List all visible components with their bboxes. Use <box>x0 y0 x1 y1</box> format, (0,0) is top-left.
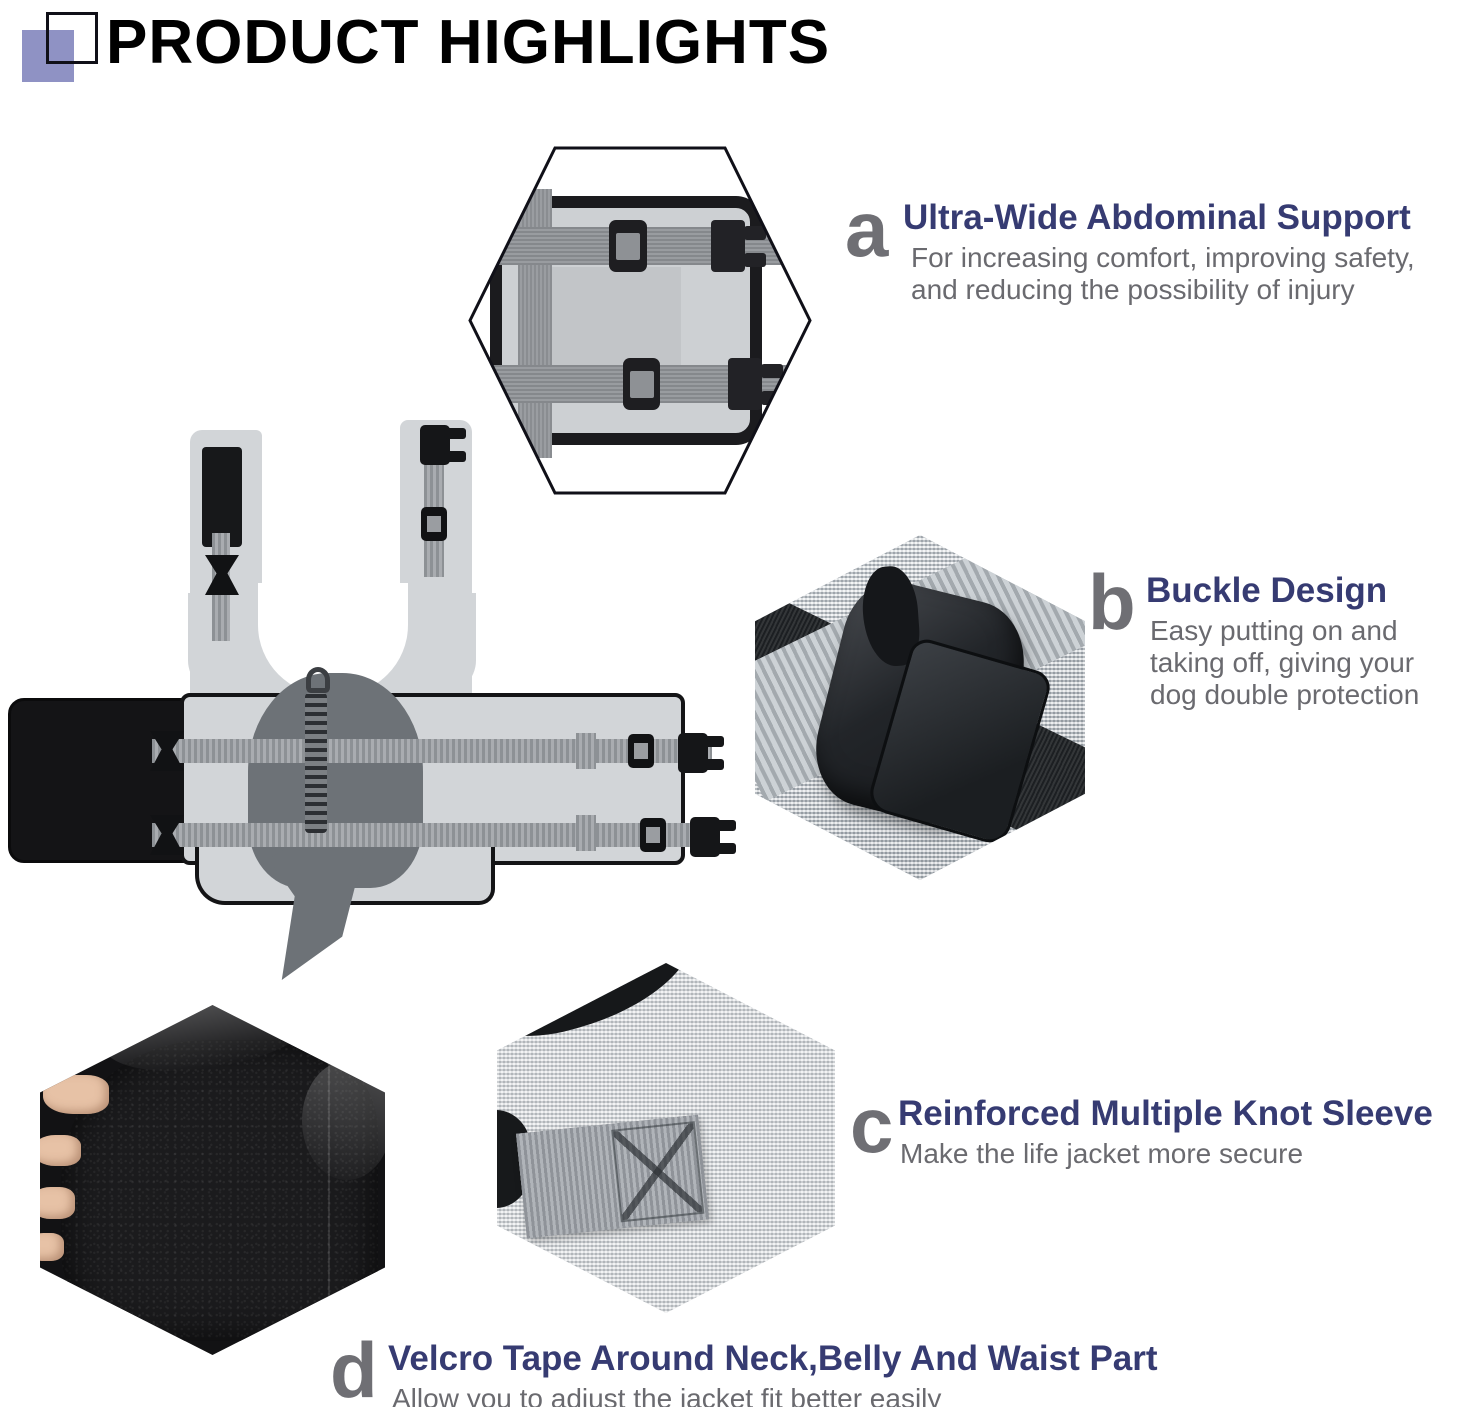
header: PRODUCT HIGHLIGHTS <box>0 0 1472 110</box>
highlight-c-letter: c <box>850 1092 893 1158</box>
lower-right-buckle-clip <box>690 817 720 857</box>
upper-vertical-keeper <box>576 733 596 769</box>
highlight-b-body: Easy putting on and taking off, giving y… <box>1150 615 1419 711</box>
ring-finger <box>40 1233 64 1261</box>
index-finger <box>40 1135 81 1167</box>
highlight-a-text: a Ultra-Wide Abdominal Support For incre… <box>845 190 1465 315</box>
center-ladder-strap <box>305 693 327 833</box>
dog-life-jacket-flat-lay-photo <box>0 415 745 985</box>
logo-outlined-square <box>46 12 98 64</box>
upper-right-buckle-clip <box>678 733 708 773</box>
neck-buckle-clip <box>420 425 450 465</box>
highlight-c-text: c Reinforced Multiple Knot Sleeve Make t… <box>850 1088 1470 1178</box>
lower-right-slide-adjuster <box>640 818 666 852</box>
highlight-a-body: For increasing comfort, improving safety… <box>911 242 1415 306</box>
buckle-closeup-photo <box>755 535 1085 880</box>
thumb <box>43 1075 109 1114</box>
highlight-d-heading: Velcro Tape Around Neck,Belly And Waist … <box>388 1339 1158 1379</box>
middle-finger <box>40 1187 75 1219</box>
velcro-seam-line <box>328 1033 330 1327</box>
highlight-d-body: Allow you to adjust the jacket fit bette… <box>392 1383 941 1407</box>
highlight-c-body: Make the life jacket more secure <box>900 1138 1303 1170</box>
highlight-d-text: d Velcro Tape Around Neck,Belly And Wais… <box>330 1335 1280 1407</box>
highlight-a-heading: Ultra-Wide Abdominal Support <box>903 198 1411 238</box>
velcro-right-sheen <box>302 1061 385 1180</box>
page-title: PRODUCT HIGHLIGHTS <box>106 7 830 78</box>
highlight-b-photo <box>755 535 1085 880</box>
right-neck-slide-adjuster <box>421 507 447 541</box>
webbing-sleeve <box>516 1115 708 1239</box>
highlight-d-photo <box>40 1005 385 1355</box>
d-ring-handle <box>306 667 330 693</box>
lower-vertical-keeper <box>576 815 596 851</box>
knot-sleeve-closeup-photo <box>497 963 835 1313</box>
highlight-b-text: b Buckle Design Easy putting on and taki… <box>1088 565 1472 715</box>
highlight-d-letter: d <box>330 1337 378 1403</box>
highlight-c-photo <box>497 963 835 1313</box>
cross-stitch-knot <box>611 1121 704 1222</box>
highlight-b-heading: Buckle Design <box>1146 571 1387 611</box>
lower-belly-strap <box>152 823 712 847</box>
neck-velcro-tape <box>202 447 242 547</box>
highlight-c-heading: Reinforced Multiple Knot Sleeve <box>898 1094 1433 1134</box>
highlight-a-letter: a <box>845 196 888 262</box>
highlight-b-letter: b <box>1088 569 1136 635</box>
product-highlights-infographic: PRODUCT HIGHLIGHTS a Ultra-Wide Abdomina… <box>0 0 1472 1407</box>
brand-logo-icon <box>22 12 97 84</box>
velcro-tape-closeup-photo <box>40 1005 385 1355</box>
upper-right-slide-adjuster <box>628 734 654 768</box>
